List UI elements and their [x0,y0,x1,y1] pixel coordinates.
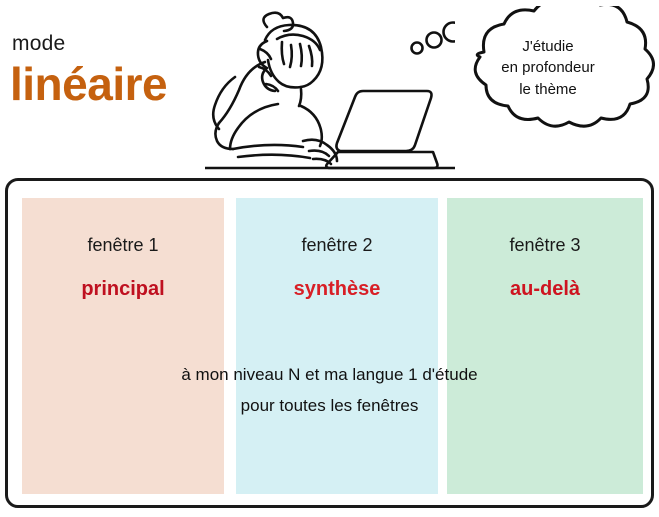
student-at-laptop-illustration [205,5,455,177]
mode-label: mode [12,33,65,54]
window-column-3[interactable]: fenêtre 3 au-delà [447,198,643,494]
window-column-3-label: fenêtre 3 [447,235,643,256]
window-column-2-title: synthèse [236,278,438,301]
thought-bubble-text: J'étudie en profondeur le thème [462,36,634,100]
window-column-1-label: fenêtre 1 [22,235,224,256]
window-column-1[interactable]: fenêtre 1 principal [22,198,224,494]
window-columns: fenêtre 1 principal fenêtre 2 synthèse f… [8,181,651,505]
window-column-2-label: fenêtre 2 [236,235,438,256]
page-title: linéaire [10,61,167,107]
mode-panel: fenêtre 1 principal fenêtre 2 synthèse f… [5,178,654,508]
window-column-2[interactable]: fenêtre 2 synthèse [236,198,438,494]
header-area: mode linéaire [0,0,659,178]
window-column-3-title: au-delà [447,278,643,301]
window-column-1-title: principal [22,278,224,301]
